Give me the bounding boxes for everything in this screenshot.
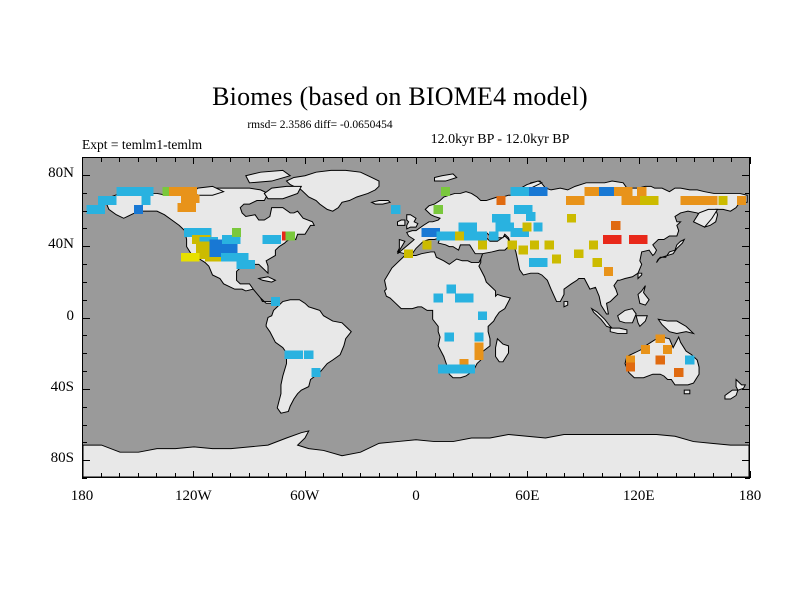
x-tick-top bbox=[546, 157, 547, 162]
y-tick-left bbox=[82, 193, 87, 194]
x-tick-bottom bbox=[676, 473, 677, 478]
x-tick-bottom bbox=[212, 473, 213, 478]
y-tick-left bbox=[82, 318, 90, 319]
biome-cell bbox=[404, 249, 413, 258]
x-tick-top bbox=[119, 157, 120, 162]
biome-cell bbox=[681, 196, 700, 205]
x-tick-bottom bbox=[527, 471, 528, 478]
y-tick-right bbox=[742, 246, 750, 247]
biome-cell bbox=[533, 223, 542, 232]
biome-cell bbox=[478, 240, 487, 249]
biome-cell bbox=[98, 196, 117, 205]
y-tick-left bbox=[82, 353, 87, 354]
x-tick-bottom bbox=[119, 473, 120, 478]
biome-cell bbox=[445, 333, 454, 342]
biome-cell bbox=[438, 364, 475, 373]
biome-cell bbox=[436, 232, 455, 241]
biome-cell bbox=[545, 240, 554, 249]
biome-cell bbox=[603, 235, 622, 244]
x-tick-top bbox=[397, 157, 398, 162]
x-tick-top bbox=[731, 157, 732, 162]
biome-cell bbox=[718, 196, 727, 205]
biome-cell bbox=[641, 345, 650, 354]
biome-cell bbox=[656, 356, 665, 365]
y-tick-right bbox=[745, 407, 750, 408]
biome-cell bbox=[459, 223, 478, 232]
biome-cell bbox=[685, 356, 694, 365]
page-title: Biomes (based on BIOME4 model) bbox=[0, 82, 800, 112]
x-tick-bottom bbox=[138, 473, 139, 478]
biome-cell bbox=[441, 187, 450, 196]
y-tick-left bbox=[82, 442, 87, 443]
x-tick-top bbox=[657, 157, 658, 162]
y-tick-right bbox=[745, 371, 750, 372]
x-tick-top bbox=[620, 157, 621, 162]
x-tick-bottom bbox=[175, 473, 176, 478]
biome-cell bbox=[621, 196, 640, 205]
biome-cell bbox=[656, 334, 665, 343]
x-tick-bottom bbox=[305, 471, 306, 478]
x-tick-bottom bbox=[750, 471, 751, 478]
biome-cell bbox=[530, 240, 539, 249]
x-tick-top bbox=[175, 157, 176, 162]
x-tick-bottom bbox=[583, 473, 584, 478]
y-tick-left bbox=[82, 371, 87, 372]
biome-cell bbox=[663, 345, 672, 354]
x-tick-top bbox=[416, 157, 417, 164]
biome-cell bbox=[434, 294, 443, 303]
biome-cell bbox=[604, 267, 613, 276]
x-tick-top bbox=[602, 157, 603, 162]
x-tick-bottom bbox=[249, 473, 250, 478]
x-tick-bottom bbox=[397, 473, 398, 478]
y-axis-label: 80S bbox=[18, 450, 74, 467]
x-tick-top bbox=[564, 157, 565, 162]
biome-cell bbox=[447, 285, 456, 294]
y-tick-right bbox=[745, 442, 750, 443]
biome-cell bbox=[116, 187, 153, 196]
biome-cell bbox=[177, 203, 196, 212]
x-tick-bottom bbox=[639, 471, 640, 478]
y-tick-right bbox=[745, 157, 750, 158]
x-tick-top bbox=[527, 157, 528, 164]
x-tick-top bbox=[676, 157, 677, 162]
x-tick-bottom bbox=[602, 473, 603, 478]
x-tick-bottom bbox=[453, 473, 454, 478]
x-axis-label: 60E bbox=[492, 488, 562, 505]
x-tick-top bbox=[230, 157, 231, 162]
biome-cell bbox=[522, 223, 531, 232]
y-tick-right bbox=[745, 353, 750, 354]
biome-cell bbox=[593, 258, 602, 267]
biome-cell bbox=[181, 194, 200, 203]
y-axis-label: 40S bbox=[18, 379, 74, 396]
biome-cell bbox=[637, 187, 646, 196]
x-tick-top bbox=[193, 157, 194, 164]
x-tick-top bbox=[268, 157, 269, 162]
x-tick-top bbox=[101, 157, 102, 162]
biome-cell bbox=[262, 235, 281, 244]
y-tick-right bbox=[745, 193, 750, 194]
biome-cell bbox=[699, 196, 718, 205]
x-tick-top bbox=[82, 157, 83, 164]
y-tick-left bbox=[82, 282, 87, 283]
biome-cell bbox=[567, 214, 576, 223]
biome-cell bbox=[626, 363, 635, 372]
y-tick-left bbox=[82, 460, 90, 461]
x-tick-top bbox=[249, 157, 250, 162]
figure-canvas: Biomes (based on BIOME4 model) rmsd= 2.3… bbox=[0, 0, 800, 600]
x-tick-top bbox=[286, 157, 287, 162]
biome-cell bbox=[529, 187, 548, 196]
y-axis-label: 80N bbox=[18, 165, 74, 182]
y-tick-left bbox=[82, 389, 90, 390]
biome-cell bbox=[629, 235, 648, 244]
biome-cell bbox=[478, 311, 487, 320]
biome-cell bbox=[510, 187, 528, 196]
biome-cell bbox=[422, 240, 431, 249]
x-tick-bottom bbox=[416, 471, 417, 478]
x-tick-bottom bbox=[490, 473, 491, 478]
x-tick-top bbox=[435, 157, 436, 162]
y-axis-label: 0 bbox=[18, 308, 74, 325]
x-tick-bottom bbox=[101, 473, 102, 478]
biome-cell bbox=[496, 196, 505, 205]
x-tick-top bbox=[639, 157, 640, 164]
biome-cell bbox=[141, 196, 150, 205]
y-tick-left bbox=[82, 228, 87, 229]
x-tick-top bbox=[509, 157, 510, 162]
biome-cell bbox=[492, 214, 511, 223]
x-tick-top bbox=[490, 157, 491, 162]
biome-cell bbox=[508, 240, 517, 249]
y-tick-left bbox=[82, 157, 87, 158]
y-tick-left bbox=[82, 478, 87, 479]
x-tick-bottom bbox=[713, 473, 714, 478]
x-tick-bottom bbox=[435, 473, 436, 478]
x-tick-top bbox=[360, 157, 361, 162]
y-tick-right bbox=[745, 478, 750, 479]
x-tick-bottom bbox=[472, 473, 473, 478]
x-axis-label: 0 bbox=[381, 488, 451, 505]
y-tick-left bbox=[82, 211, 87, 212]
biome-cell bbox=[519, 246, 528, 255]
y-tick-right bbox=[742, 389, 750, 390]
x-tick-bottom bbox=[694, 473, 695, 478]
y-tick-right bbox=[745, 335, 750, 336]
x-tick-bottom bbox=[323, 473, 324, 478]
y-tick-left bbox=[82, 425, 87, 426]
x-tick-bottom bbox=[546, 473, 547, 478]
x-tick-top bbox=[305, 157, 306, 164]
x-axis-label: 180 bbox=[715, 488, 785, 505]
x-tick-top bbox=[583, 157, 584, 162]
x-axis-label: 60W bbox=[270, 488, 340, 505]
statistics-line: rmsd= 2.3586 diff= -0.0650454 bbox=[0, 119, 640, 131]
y-tick-left bbox=[82, 264, 87, 265]
biome-cell bbox=[574, 249, 583, 258]
y-tick-right bbox=[745, 282, 750, 283]
x-tick-bottom bbox=[342, 473, 343, 478]
x-tick-bottom bbox=[379, 473, 380, 478]
x-tick-top bbox=[212, 157, 213, 162]
biome-cell bbox=[391, 205, 400, 214]
biome-cell bbox=[304, 350, 313, 359]
x-tick-bottom bbox=[509, 473, 510, 478]
x-tick-top bbox=[379, 157, 380, 162]
biome-cell bbox=[674, 368, 683, 377]
biome-cell bbox=[455, 294, 474, 303]
x-tick-top bbox=[713, 157, 714, 162]
x-tick-top bbox=[750, 157, 751, 164]
biome-cell bbox=[311, 368, 320, 377]
y-tick-right bbox=[745, 300, 750, 301]
y-axis-label: 40N bbox=[18, 236, 74, 253]
y-tick-right bbox=[745, 228, 750, 229]
biome-cell bbox=[614, 187, 633, 196]
y-tick-left bbox=[82, 407, 87, 408]
biome-cell bbox=[589, 240, 598, 249]
y-tick-right bbox=[745, 425, 750, 426]
x-tick-bottom bbox=[731, 473, 732, 478]
biome-cell bbox=[529, 258, 548, 267]
map-plot-area bbox=[82, 157, 750, 478]
biome-cell bbox=[489, 232, 498, 241]
x-tick-bottom bbox=[360, 473, 361, 478]
x-tick-top bbox=[156, 157, 157, 162]
y-tick-left bbox=[82, 175, 90, 176]
y-tick-right bbox=[742, 175, 750, 176]
x-tick-top bbox=[138, 157, 139, 162]
biome-cell bbox=[181, 253, 200, 262]
period-label: 12.0kyr BP - 12.0kyr BP bbox=[0, 132, 800, 148]
biome-cell bbox=[526, 212, 535, 221]
world-map bbox=[83, 158, 749, 477]
biome-cell bbox=[478, 232, 487, 241]
y-tick-left bbox=[82, 246, 90, 247]
biome-cell bbox=[286, 232, 295, 241]
x-tick-top bbox=[453, 157, 454, 162]
x-tick-top bbox=[694, 157, 695, 162]
x-tick-bottom bbox=[82, 471, 83, 478]
x-tick-bottom bbox=[156, 473, 157, 478]
y-tick-left bbox=[82, 300, 87, 301]
biome-cell bbox=[285, 350, 304, 359]
x-tick-bottom bbox=[657, 473, 658, 478]
x-tick-bottom bbox=[564, 473, 565, 478]
biome-cell bbox=[474, 342, 483, 360]
x-tick-bottom bbox=[620, 473, 621, 478]
y-tick-right bbox=[745, 211, 750, 212]
biome-cell bbox=[434, 205, 443, 214]
x-tick-top bbox=[472, 157, 473, 162]
x-tick-bottom bbox=[286, 473, 287, 478]
x-axis-label: 180 bbox=[47, 488, 117, 505]
x-tick-bottom bbox=[268, 473, 269, 478]
biome-cell bbox=[87, 205, 106, 214]
x-axis-label: 120E bbox=[604, 488, 674, 505]
x-tick-top bbox=[342, 157, 343, 162]
y-tick-right bbox=[742, 460, 750, 461]
y-tick-right bbox=[745, 264, 750, 265]
biome-cell bbox=[134, 205, 143, 214]
biome-cell bbox=[737, 196, 746, 205]
biome-cell bbox=[232, 228, 241, 237]
x-tick-bottom bbox=[230, 473, 231, 478]
biome-cell bbox=[566, 196, 585, 205]
biome-cell bbox=[552, 255, 561, 264]
x-tick-top bbox=[323, 157, 324, 162]
biome-cell bbox=[474, 333, 483, 342]
y-tick-left bbox=[82, 335, 87, 336]
y-tick-right bbox=[742, 318, 750, 319]
biome-cell bbox=[640, 196, 659, 205]
biome-cell bbox=[611, 221, 620, 230]
biome-cell bbox=[271, 297, 280, 306]
biome-cell bbox=[237, 260, 256, 269]
x-tick-bottom bbox=[193, 471, 194, 478]
x-axis-label: 120W bbox=[158, 488, 228, 505]
